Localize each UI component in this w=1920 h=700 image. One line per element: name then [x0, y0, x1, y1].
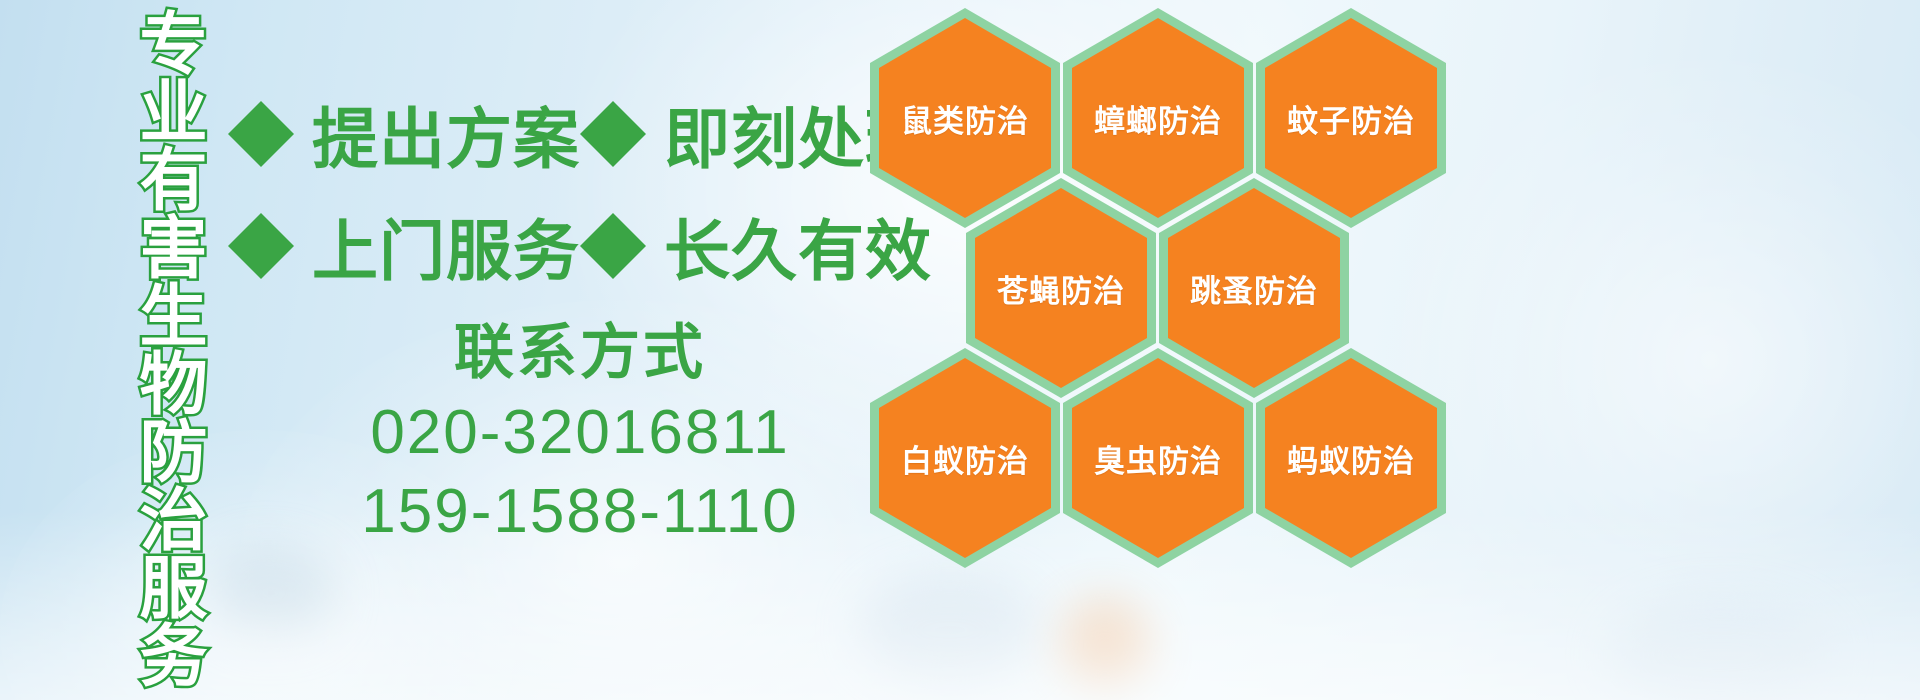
service-hex-label: 蚊子防治 — [1287, 96, 1415, 141]
diamond-bullet-icon — [580, 68, 646, 134]
diamond-bullet-icon — [580, 180, 646, 246]
feature-item: 上门服务 — [228, 198, 580, 294]
contact-phone-mobile[interactable]: 159-1588-1110 — [300, 472, 860, 551]
service-hex-cell[interactable]: 蟑螂防治 — [1063, 8, 1253, 228]
contact-block: 联系方式 020-32016811 159-1588-1110 — [300, 318, 860, 552]
service-hex-cell[interactable]: 蚂蚁防治 — [1256, 348, 1446, 568]
diamond-bullet-icon — [228, 68, 294, 134]
service-hex-cell[interactable]: 鼠类防治 — [870, 8, 1060, 228]
contact-heading: 联系方式 — [300, 318, 860, 387]
service-hex-label: 蟑螂防治 — [1094, 96, 1222, 141]
feature-label: 上门服务 — [312, 198, 580, 294]
vertical-headline: 专业有害生物防治服务 — [104, 8, 200, 568]
service-hex-cell[interactable]: 蚊子防治 — [1256, 8, 1446, 228]
diamond-bullet-icon — [228, 180, 294, 246]
service-hex-cell[interactable]: 跳蚤防治 — [1159, 178, 1349, 398]
background-blur-shape — [1610, 600, 1830, 700]
service-hex-label: 苍蝇防治 — [997, 266, 1125, 311]
service-hex-label: 白蚁防治 — [901, 436, 1029, 481]
service-hex-label: 跳蚤防治 — [1190, 266, 1318, 311]
promo-banner: 专业有害生物防治服务 提出方案 即刻处理 上门服务 长久有效 — [0, 0, 1920, 700]
service-honeycomb: 鼠类防治 蟑螂防治 蚊子防治 苍蝇防治 跳蚤防治 白蚁防治 臭虫防治 — [860, 0, 1460, 700]
background-glow — [1400, 60, 1920, 660]
feature-item: 提出方案 — [228, 86, 580, 182]
service-hex-label: 蚂蚁防治 — [1287, 436, 1415, 481]
feature-list: 提出方案 即刻处理 上门服务 长久有效 — [228, 78, 888, 302]
feature-row: 提出方案 即刻处理 — [228, 78, 888, 190]
background-blur-shape — [215, 548, 335, 638]
service-hex-label: 臭虫防治 — [1094, 436, 1222, 481]
feature-label: 提出方案 — [312, 86, 580, 182]
service-hex-cell[interactable]: 臭虫防治 — [1063, 348, 1253, 568]
service-hex-cell[interactable]: 苍蝇防治 — [966, 178, 1156, 398]
contact-phone-landline[interactable]: 020-32016811 — [300, 393, 860, 472]
service-hex-label: 鼠类防治 — [901, 96, 1029, 141]
feature-row: 上门服务 长久有效 — [228, 190, 888, 302]
service-hex-cell[interactable]: 白蚁防治 — [870, 348, 1060, 568]
